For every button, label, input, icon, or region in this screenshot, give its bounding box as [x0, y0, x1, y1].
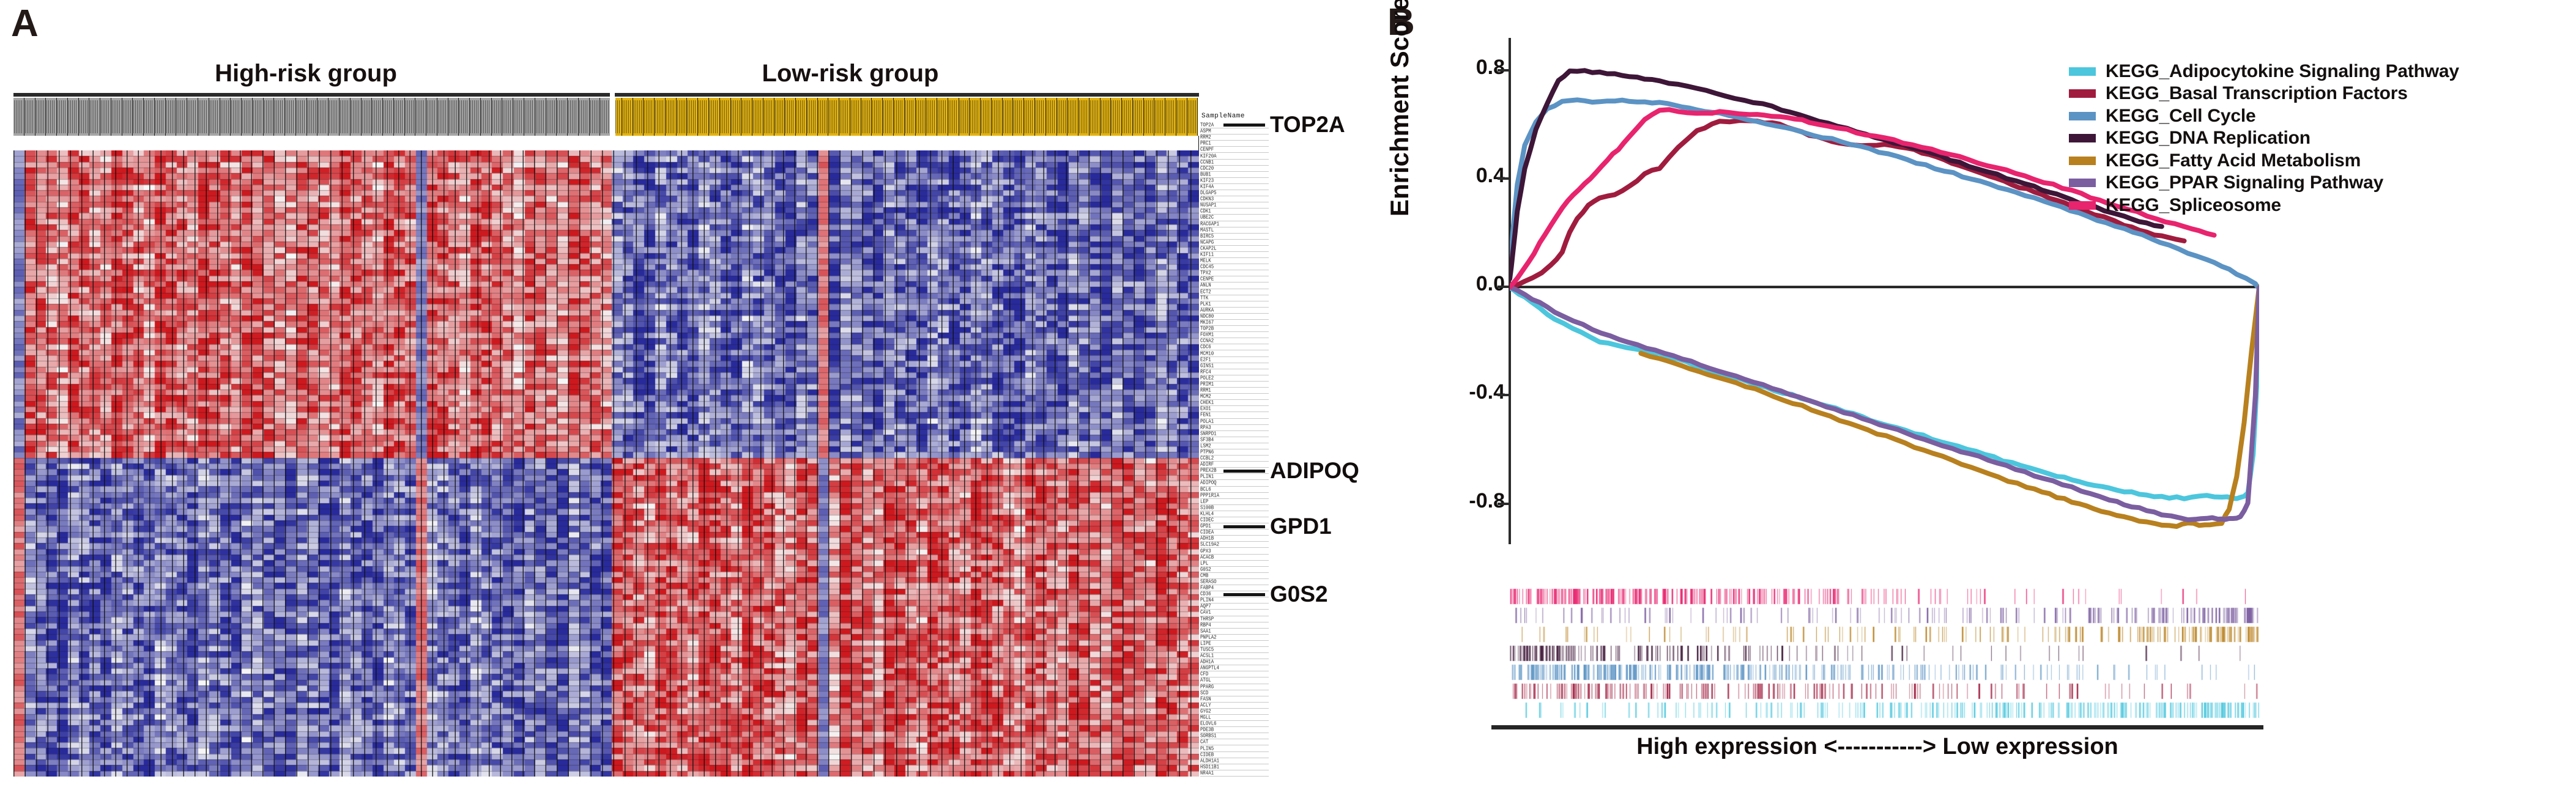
sample-column — [709, 98, 720, 136]
sample-column — [698, 98, 709, 136]
sample-column — [579, 98, 590, 136]
gene-label: SORBS1 — [1200, 733, 1217, 739]
legend-swatch — [2069, 89, 2096, 98]
sample-column — [79, 98, 90, 136]
callout-leader-line — [1223, 470, 1265, 473]
gene-label: SERASO — [1200, 579, 1217, 585]
gene-label: LSM2 — [1200, 443, 1211, 449]
sample-column — [198, 98, 209, 136]
sample-column — [1187, 98, 1198, 136]
sample-column — [1111, 98, 1122, 136]
gene-row: CHEK1 — [1200, 400, 1269, 406]
strip-spacer — [13, 136, 1199, 152]
gene-label: ANGPTL4 — [1200, 665, 1219, 671]
gene-label: PRIM1 — [1200, 382, 1214, 388]
gene-row: BCL6 — [1200, 487, 1269, 493]
gene-label: RPA3 — [1200, 425, 1211, 431]
sample-column — [741, 98, 752, 136]
sample-column — [264, 98, 275, 136]
gene-row: ADH1B — [1200, 536, 1269, 542]
gene-label: TOP2B — [1200, 326, 1214, 332]
sample-column — [68, 98, 79, 136]
hit-marker-canvas — [1510, 587, 2259, 606]
y-tick-label: -0.4 — [1431, 380, 1505, 404]
gene-callout-top2a: TOP2A — [1270, 112, 1345, 138]
sample-column — [1013, 98, 1024, 136]
sample-column — [1089, 98, 1101, 136]
legend-label: KEGG_Spliceosome — [2106, 195, 2281, 216]
sample-column — [926, 98, 937, 136]
gene-label: NUSAP1 — [1200, 202, 1217, 209]
gene-row: HSD11B1 — [1200, 764, 1269, 770]
callout-leader-line — [1223, 124, 1265, 127]
hit-marker-canvas — [1510, 606, 2259, 625]
sample-column — [894, 98, 905, 136]
gene-label: CCNA2 — [1200, 338, 1214, 344]
legend-swatch — [2069, 201, 2096, 210]
sample-column — [557, 98, 568, 136]
hit-marker-canvas — [1510, 644, 2259, 663]
gene-label: ADIRF — [1200, 462, 1214, 468]
gene-row: MCM2 — [1200, 394, 1269, 400]
gene-row: PLIN4 — [1200, 597, 1269, 604]
sample-column — [242, 98, 253, 136]
hit-marker-canvas — [1510, 701, 2259, 720]
gene-row: S100B — [1200, 505, 1269, 511]
gene-label: FEN1 — [1200, 412, 1211, 418]
sample-column — [1035, 98, 1046, 136]
hit-marker-band — [1510, 606, 2259, 625]
gene-row: ACLY — [1200, 703, 1269, 709]
gene-label: SF3B4 — [1200, 437, 1214, 443]
gene-label: CCBL2 — [1200, 456, 1214, 462]
gene-callout-g0s2: G0S2 — [1270, 581, 1328, 607]
gene-row: ANGPTL4 — [1200, 665, 1269, 671]
low-risk-group-rule — [615, 93, 1199, 97]
gene-row: TTK — [1200, 295, 1269, 301]
gene-label: FABP4 — [1200, 585, 1214, 591]
y-axis-label: Enrichment Score — [1385, 180, 1414, 216]
sample-column — [307, 98, 318, 136]
sample-column — [861, 98, 872, 136]
gene-label: MCM2 — [1200, 394, 1211, 400]
gene-row: RPA3 — [1200, 425, 1269, 431]
legend-swatch — [2069, 179, 2096, 187]
sample-column — [437, 98, 448, 136]
gene-label: MGLL — [1200, 715, 1211, 721]
gene-row: CDK1 — [1200, 209, 1269, 215]
sample-column — [1057, 98, 1068, 136]
callout-leader-line — [1223, 525, 1265, 528]
gsea-hit-marker-bands — [1510, 587, 2259, 720]
gene-label: CDC45 — [1200, 264, 1214, 270]
legend-item[interactable]: KEGG_PPAR Signaling Pathway — [2069, 173, 2558, 193]
gene-row: GINS1 — [1200, 363, 1269, 369]
gene-label: G0S2 — [1200, 567, 1211, 573]
gene-row: GYG2 — [1200, 709, 1269, 715]
legend-item[interactable]: KEGG_DNA Replication — [2069, 128, 2558, 149]
gene-row: NDC80 — [1200, 314, 1269, 320]
gene-row: EXO1 — [1200, 406, 1269, 412]
gene-label: ANLN — [1200, 282, 1211, 289]
sample-column — [89, 98, 100, 136]
gene-label: RFC4 — [1200, 369, 1211, 375]
gene-label: LEP — [1200, 499, 1208, 505]
legend-swatch — [2069, 134, 2096, 142]
sample-column — [720, 98, 731, 136]
gene-row: CDC20 — [1200, 166, 1269, 172]
gene-row: PLIN5 — [1200, 745, 1269, 751]
sample-column — [470, 98, 481, 136]
legend-item[interactable]: KEGG_Spliceosome — [2069, 195, 2558, 215]
gene-row: CFD — [1200, 671, 1269, 677]
gene-label: AQP7 — [1200, 604, 1211, 610]
gene-row: FEN1 — [1200, 412, 1269, 418]
sample-column — [502, 98, 513, 136]
gene-label: CDK1 — [1200, 209, 1211, 215]
gene-label: KIF4A — [1200, 184, 1214, 190]
gene-label: RRM1 — [1200, 388, 1211, 394]
gene-row: CDKN3 — [1200, 196, 1269, 202]
legend-label: KEGG_DNA Replication — [2106, 128, 2311, 149]
sample-column — [513, 98, 524, 136]
y-tick-mark — [1498, 69, 1510, 72]
gene-row: PPP1R1A — [1200, 493, 1269, 499]
sample-column — [970, 98, 981, 136]
legend-label: KEGG_Cell Cycle — [2106, 106, 2255, 127]
sample-name-header: SampleName — [1201, 113, 1269, 120]
gene-row: ADIPOQ — [1200, 480, 1269, 486]
sample-column — [100, 98, 111, 136]
gene-row: ECT2 — [1200, 289, 1269, 295]
sample-column — [1067, 98, 1078, 136]
gene-label: UBE2C — [1200, 215, 1214, 221]
gene-label: CFD — [1200, 671, 1208, 677]
gene-label: GPD1 — [1200, 523, 1211, 530]
gene-label: PLIN1 — [1200, 474, 1214, 480]
gene-row: CENPE — [1200, 276, 1269, 282]
gene-label: ADH1A — [1200, 659, 1214, 665]
sample-column — [209, 98, 220, 136]
sample-column — [818, 98, 829, 136]
gene-label: CAT — [1200, 739, 1208, 745]
gene-label: NCAPG — [1200, 240, 1214, 246]
sample-column — [133, 98, 144, 136]
gene-row: LIPE — [1200, 641, 1269, 647]
legend-swatch — [2069, 157, 2096, 165]
gene-label: CHEK1 — [1200, 400, 1214, 406]
gene-row: ASPM — [1200, 128, 1269, 135]
gene-label: CIDEC — [1200, 517, 1214, 523]
gene-row: CCNA2 — [1200, 338, 1269, 344]
gene-row: ALDH1A1 — [1200, 758, 1269, 764]
legend-swatch — [2069, 67, 2096, 76]
gene-row: BIRC5 — [1200, 234, 1269, 240]
legend-item[interactable]: KEGG_Basal Transcription Factors — [2069, 84, 2558, 104]
callout-leader-line — [1223, 593, 1265, 596]
gene-row: BUB1 — [1200, 172, 1269, 178]
sample-column — [959, 98, 970, 136]
hit-marker-band — [1510, 701, 2259, 720]
hit-marker-band — [1510, 644, 2259, 663]
y-tick-label: 0.0 — [1431, 272, 1505, 296]
gene-label: ALDH1A1 — [1200, 758, 1219, 764]
sample-column — [1078, 98, 1089, 136]
sample-column — [394, 98, 405, 136]
gene-label: ASPM — [1200, 128, 1211, 135]
gene-row: MCM10 — [1200, 350, 1269, 356]
sample-column — [1154, 98, 1165, 136]
sample-column — [883, 98, 894, 136]
heatmap-canvas — [13, 150, 1199, 777]
gene-label: CDC20 — [1200, 166, 1214, 172]
sample-column — [155, 98, 166, 136]
gene-row: TOP2B — [1200, 326, 1269, 332]
gene-label: CD36 — [1200, 591, 1211, 597]
sample-column — [828, 98, 839, 136]
gene-row: NUSAP1 — [1200, 202, 1269, 209]
gene-label: PLIN4 — [1200, 597, 1214, 604]
gene-label: CENPF — [1200, 147, 1214, 153]
sample-column — [752, 98, 763, 136]
sample-column — [415, 98, 426, 136]
gene-label: KIF11 — [1200, 252, 1214, 258]
sample-column — [839, 98, 850, 136]
gene-row: ACSL1 — [1200, 653, 1269, 659]
y-axis-ticks: 0.80.40.0-0.4-0.8 — [1425, 0, 1505, 790]
gene-row: KIF11 — [1200, 252, 1269, 258]
gene-row: RRM1 — [1200, 388, 1269, 394]
gene-label: PPARG — [1200, 684, 1214, 690]
gene-row: KIF4A — [1200, 184, 1269, 190]
gene-row: MKI67 — [1200, 320, 1269, 326]
gene-row: CCBL2 — [1200, 456, 1269, 462]
gene-label: POLA1 — [1200, 419, 1214, 425]
legend-item[interactable]: KEGG_Cell Cycle — [2069, 106, 2558, 126]
sample-column — [24, 98, 35, 136]
gene-label: SNRPD1 — [1200, 431, 1217, 437]
gene-row: PLIN1 — [1200, 474, 1269, 480]
gene-label: ADIPOQ — [1200, 480, 1217, 486]
gene-row: RRM2 — [1200, 135, 1269, 141]
hit-marker-canvas — [1510, 625, 2259, 644]
gene-label: EXO1 — [1200, 406, 1211, 412]
gene-row: CMB — [1200, 573, 1269, 579]
gene-row: CKAP2L — [1200, 246, 1269, 252]
sample-column — [340, 98, 351, 136]
y-tick-mark — [1498, 177, 1510, 180]
gene-row: THRSP — [1200, 616, 1269, 622]
sample-column — [872, 98, 883, 136]
sample-column — [122, 98, 133, 136]
gene-row: MELK — [1200, 258, 1269, 264]
gene-row: DLGAP5 — [1200, 190, 1269, 196]
gene-name-column: SampleName TOP2AASPMRRM2PRC1CENPFKIF20AC… — [1200, 113, 1269, 777]
low-risk-group-label: Low-risk group — [642, 60, 1058, 87]
gene-row: TPX2 — [1200, 270, 1269, 276]
hit-marker-band — [1510, 682, 2259, 701]
gene-label: MKI67 — [1200, 320, 1214, 326]
gene-label: KIF23 — [1200, 178, 1214, 184]
hit-marker-canvas — [1510, 663, 2259, 682]
gene-label: CCNB1 — [1200, 160, 1214, 166]
gene-label: CKAP2L — [1200, 246, 1217, 252]
legend-label: KEGG_Basal Transcription Factors — [2106, 83, 2408, 104]
legend-label: KEGG_PPAR Signaling Pathway — [2106, 172, 2383, 193]
gene-label: TUSC5 — [1200, 647, 1214, 653]
sample-column — [492, 98, 503, 136]
sample-column — [111, 98, 122, 136]
gene-label: ACACB — [1200, 555, 1214, 561]
gene-label: GINS1 — [1200, 363, 1214, 369]
gene-row: AQP7 — [1200, 604, 1269, 610]
sample-column — [796, 98, 807, 136]
gene-row: CDC45 — [1200, 264, 1269, 270]
gene-row: CIDEC — [1200, 517, 1269, 523]
gene-label: CDKN3 — [1200, 196, 1214, 202]
gene-row: FASN — [1200, 696, 1269, 703]
sample-column — [807, 98, 818, 136]
gene-row: PRIM1 — [1200, 382, 1269, 388]
gene-row: PTPN6 — [1200, 449, 1269, 456]
sample-column — [981, 98, 992, 136]
gene-label: PREX2B — [1200, 468, 1217, 474]
gene-row: ANLN — [1200, 282, 1269, 289]
gene-row: LPL — [1200, 561, 1269, 567]
gene-label: PTPN6 — [1200, 449, 1214, 456]
legend-item[interactable]: KEGG_Fatty Acid Metabolism — [2069, 150, 2558, 171]
gene-row: G0S2 — [1200, 567, 1269, 573]
gene-row: LEP — [1200, 499, 1269, 505]
sample-column — [274, 98, 285, 136]
gene-row: TUSC5 — [1200, 647, 1269, 653]
sample-column — [644, 98, 655, 136]
sample-column — [677, 98, 688, 136]
y-tick-label: 0.8 — [1431, 56, 1505, 79]
gene-label: PNPLA2 — [1200, 635, 1217, 641]
gene-label: TPX2 — [1200, 270, 1211, 276]
high-risk-group-label: High-risk group — [92, 60, 520, 87]
gene-row: AURKA — [1200, 308, 1269, 314]
legend-swatch — [2069, 112, 2096, 120]
sample-column — [144, 98, 155, 136]
gene-row: CCNB1 — [1200, 160, 1269, 166]
y-tick-mark — [1498, 503, 1510, 505]
sample-column — [1101, 98, 1112, 136]
sample-column — [176, 98, 187, 136]
hit-marker-band — [1510, 625, 2259, 644]
sample-column — [459, 98, 470, 136]
sample-column — [231, 98, 242, 136]
gene-row: RBP4 — [1200, 622, 1269, 629]
sample-column — [850, 98, 861, 136]
legend-item[interactable]: KEGG_Adipocytokine Signaling Pathway — [2069, 61, 2558, 81]
sample-column — [937, 98, 948, 136]
sample-column — [666, 98, 677, 136]
sample-column — [187, 98, 198, 136]
hit-marker-canvas — [1510, 682, 2259, 701]
sample-column — [622, 98, 633, 136]
sample-column — [774, 98, 785, 136]
x-axis-label: High expression <-----------> Low expres… — [1491, 734, 2263, 760]
gene-row: KIF23 — [1200, 178, 1269, 184]
gene-label: ATGL — [1200, 677, 1211, 684]
gene-row: CIDEA — [1200, 530, 1269, 536]
gene-row: SAA1 — [1200, 629, 1269, 635]
sample-column — [328, 98, 340, 136]
gene-label: KIF20A — [1200, 153, 1217, 160]
gene-label: ACLY — [1200, 703, 1211, 709]
sample-column — [285, 98, 296, 136]
sample-column — [351, 98, 362, 136]
sample-column — [372, 98, 383, 136]
sample-column — [426, 98, 437, 136]
gene-row: CDC6 — [1200, 344, 1269, 350]
gene-label: MASTL — [1200, 227, 1214, 234]
gene-row: GPX3 — [1200, 548, 1269, 554]
gene-label: ELOVL6 — [1200, 721, 1217, 727]
gene-label: TTK — [1200, 295, 1208, 301]
gene-row: RACGAP1 — [1200, 221, 1269, 227]
gene-label: PRC1 — [1200, 141, 1211, 147]
heatmap-grid — [13, 150, 1199, 777]
hit-marker-band — [1510, 663, 2259, 682]
gene-row: CENPF — [1200, 147, 1269, 153]
gene-label: NR4A1 — [1200, 770, 1214, 777]
gene-row: RFC4 — [1200, 369, 1269, 375]
gene-label: PDE3B — [1200, 727, 1214, 733]
gene-label: POLE2 — [1200, 375, 1214, 382]
gene-label: GPX3 — [1200, 548, 1211, 555]
gene-label: CIDEA — [1200, 530, 1214, 536]
gene-row: PRC1 — [1200, 141, 1269, 147]
panel-a-heatmap: A High-risk group Low-risk group SampleN… — [0, 0, 1346, 790]
sample-column — [948, 98, 959, 136]
sample-column — [296, 98, 307, 136]
sample-column — [687, 98, 698, 136]
gene-label: CIDEB — [1200, 752, 1214, 758]
gene-label: CMB — [1200, 573, 1208, 579]
sample-column — [166, 98, 177, 136]
sample-column — [383, 98, 394, 136]
sample-column — [362, 98, 373, 136]
gene-row: LSM2 — [1200, 443, 1269, 449]
sample-column — [785, 98, 796, 136]
gene-row: SORBS1 — [1200, 733, 1269, 739]
group-divider — [610, 97, 615, 137]
gene-row: KLHL4 — [1200, 511, 1269, 517]
sample-column — [220, 98, 231, 136]
gene-row: MASTL — [1200, 227, 1269, 234]
gene-label: E2F1 — [1200, 357, 1211, 363]
gene-row: SERASO — [1200, 579, 1269, 585]
gene-label: CAV1 — [1200, 610, 1211, 616]
legend-label: KEGG_Fatty Acid Metabolism — [2106, 150, 2361, 171]
sample-column — [253, 98, 264, 136]
gene-label: ADH1B — [1200, 536, 1214, 542]
gene-label: HSD11B1 — [1200, 764, 1219, 770]
gene-row: ADIRF — [1200, 462, 1269, 468]
sample-column — [46, 98, 57, 136]
panel-a-letter: A — [11, 5, 39, 43]
gene-label: ACSL1 — [1200, 653, 1214, 659]
gene-row: UBE2C — [1200, 215, 1269, 221]
sample-column — [1165, 98, 1176, 136]
gene-row: FOXM1 — [1200, 332, 1269, 338]
gene-label: CDC6 — [1200, 344, 1211, 350]
sample-column — [1176, 98, 1187, 136]
sample-column — [535, 98, 546, 136]
